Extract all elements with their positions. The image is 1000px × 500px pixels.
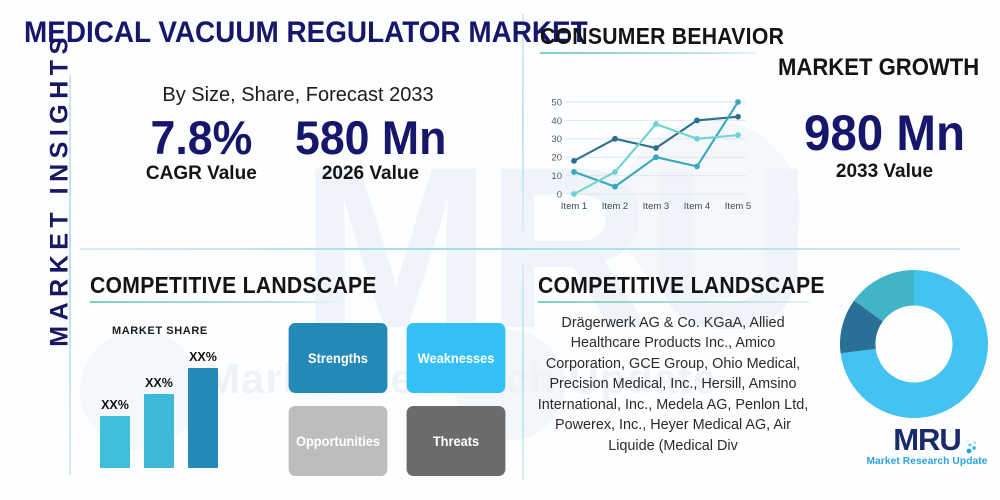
svg-text:Item 3: Item 3 — [643, 201, 669, 212]
bar-value-label: XX% — [189, 350, 217, 364]
side-label-market-insights: MARKET INSIGHTS — [46, 0, 75, 400]
kpi-block-top-left: By Size, Share, Forecast 2033 7.8% CAGR … — [78, 84, 518, 185]
section-heading-consumer-behavior: CONSUMER BEHAVIOR — [540, 23, 805, 54]
svg-text:0: 0 — [557, 189, 562, 200]
bar-chart-bars: XX%XX%XX% — [100, 343, 218, 468]
swot-cell-strengths[interactable]: Strengths — [289, 323, 388, 393]
section-heading-competitive-landscape-right: COMPETITIVE LANDSCAPE — [538, 272, 850, 303]
page-title: MEDICAL VACUUM REGULATOR MARKET — [24, 16, 588, 50]
kpi-2026-caption: 2026 Value — [291, 163, 450, 185]
svg-text:50: 50 — [551, 97, 562, 108]
swot-grid: StrengthsWeaknessesOpportunitiesThreats — [286, 323, 508, 476]
svg-text:30: 30 — [551, 134, 562, 145]
donut-chart-svg — [838, 268, 990, 420]
section-heading-competitive-landscape-left: COMPETITIVE LANDSCAPE — [90, 272, 402, 303]
divider-horizontal — [80, 248, 960, 250]
bar-chart-column: XX% — [188, 350, 218, 468]
kpi-cagr-caption: CAGR Value — [146, 163, 257, 185]
svg-text:Item 5: Item 5 — [725, 201, 751, 212]
swot-cell-threats[interactable]: Threats — [407, 406, 506, 476]
infographic-canvas: MRU Market Research Update MARKET INSIGH… — [0, 0, 1000, 500]
kpi-cagr-value: 7.8% — [149, 113, 254, 162]
bar — [144, 394, 174, 468]
bar-chart-column: XX% — [100, 398, 130, 468]
svg-text:40: 40 — [551, 116, 562, 127]
bar — [100, 416, 130, 468]
svg-text:10: 10 — [551, 171, 562, 182]
logo-mark: MRU — [862, 424, 992, 455]
kpi-2026: 580 Mn 2026 Value — [291, 113, 450, 185]
section-heading-label: COMPETITIVE LANDSCAPE — [538, 272, 825, 299]
kpi-2033-value: 980 Mn — [778, 108, 992, 158]
kpi-2033-caption: 2033 Value — [772, 161, 997, 183]
competitive-share-donut — [838, 268, 990, 425]
logo: MRU Market Research Update — [862, 424, 992, 467]
swot-cell-label: Threats — [433, 434, 479, 449]
bubbles-icon — [963, 439, 981, 455]
swot-cell-label: Weaknesses — [418, 351, 495, 366]
kpi-row: 7.8% CAGR Value 580 Mn 2026 Value — [78, 113, 518, 185]
market-share-bar-chart: MARKET SHARE XX%XX%XX% — [100, 325, 218, 468]
divider-vertical-bottom — [522, 265, 524, 480]
line-chart-svg: 01020304050Item 1Item 2Item 3Item 4Item … — [540, 96, 752, 214]
swot-cell-weaknesses[interactable]: Weaknesses — [407, 323, 506, 393]
bar-value-label: XX% — [145, 376, 173, 390]
swot-cell-label: Opportunities — [296, 434, 380, 449]
company-list-text: Drägerwerk AG & Co. KGaA, Allied Healthc… — [534, 313, 812, 456]
forecast-subtitle: By Size, Share, Forecast 2033 — [78, 84, 518, 107]
section-heading-label: CONSUMER BEHAVIOR — [540, 23, 784, 50]
market-share-label: MARKET SHARE — [112, 325, 218, 337]
logo-mru-text: MRU — [893, 424, 961, 455]
svg-text:Item 1: Item 1 — [561, 201, 587, 212]
section-heading-market-growth: MARKET GROWTH — [778, 54, 979, 82]
logo-tagline: Market Research Update — [862, 456, 992, 467]
consumer-behavior-line-chart: 01020304050Item 1Item 2Item 3Item 4Item … — [540, 96, 752, 219]
swot-cell-label: Strengths — [308, 351, 368, 366]
svg-text:Item 4: Item 4 — [684, 201, 710, 212]
bar — [188, 368, 218, 468]
section-heading-label: COMPETITIVE LANDSCAPE — [90, 272, 377, 299]
bar-chart-column: XX% — [144, 376, 174, 468]
bar-value-label: XX% — [101, 398, 129, 412]
heading-underline — [90, 301, 340, 303]
kpi-cagr: 7.8% CAGR Value — [146, 113, 257, 185]
heading-underline — [538, 301, 810, 303]
heading-underline — [540, 52, 756, 54]
svg-text:Item 2: Item 2 — [602, 201, 628, 212]
kpi-2026-value: 580 Mn — [295, 113, 446, 162]
swot-cell-opportunities[interactable]: Opportunities — [289, 406, 388, 476]
kpi-block-2033: 980 Mn 2033 Value — [772, 108, 997, 183]
svg-text:20: 20 — [551, 153, 562, 164]
